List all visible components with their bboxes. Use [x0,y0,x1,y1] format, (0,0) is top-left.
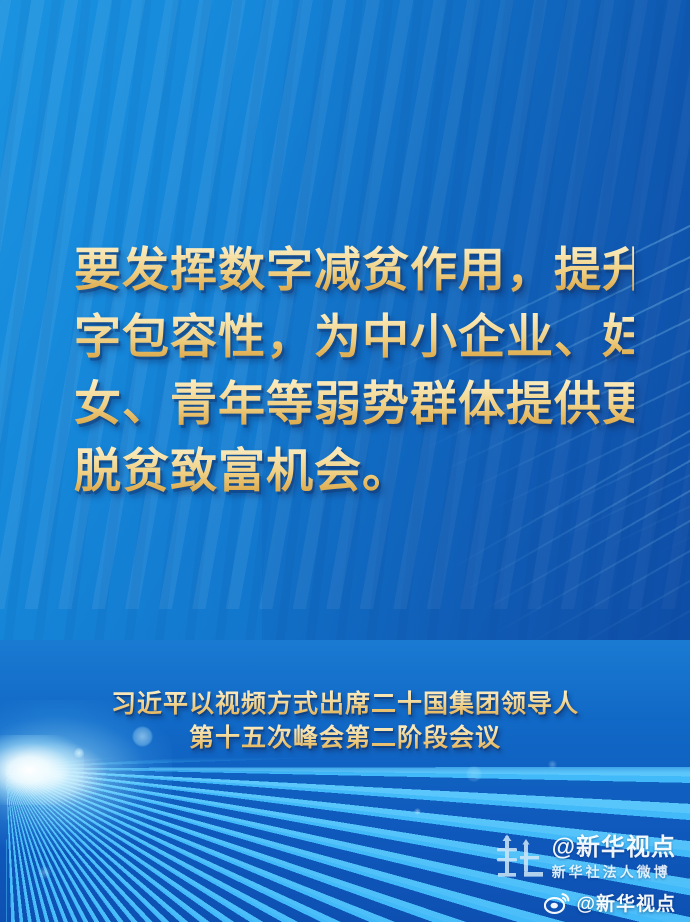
quote-line-4: 脱贫致富机会。 [74,439,634,506]
caption-line-2: 第十五次峰会第二阶段会议 [0,722,690,756]
poster-canvas: 要发挥数字减贫作用，提升数 字包容性，为中小企业、妇 女、青年等弱势群体提供更多… [0,0,690,922]
weibo-handle: @新华视点 [576,889,676,916]
caption-block: 习近平以视频方式出席二十国集团领导人 第十五次峰会第二阶段会议 [0,688,690,756]
quote-line-1: 要发挥数字减贫作用，提升数 [74,238,634,305]
brand-lockup: @新华视点 新华社法人微博 [491,832,676,882]
xinhua-logo-icon [491,832,545,882]
weibo-watermark: @新华视点 [544,889,676,916]
quote-line-3: 女、青年等弱势群体提供更多 [74,372,634,439]
caption-line-1: 习近平以视频方式出席二十国集团领导人 [0,688,690,722]
brand-subtitle: 新华社法人微博 [552,865,676,879]
quote-line-2: 字包容性，为中小企业、妇 [74,305,634,372]
brand-handle: @新华视点 [552,836,676,860]
quote-block: 要发挥数字减贫作用，提升数 字包容性，为中小企业、妇 女、青年等弱势群体提供更多… [74,238,634,506]
weibo-icon [544,892,570,914]
brand-text: @新华视点 新华社法人微博 [552,836,676,879]
